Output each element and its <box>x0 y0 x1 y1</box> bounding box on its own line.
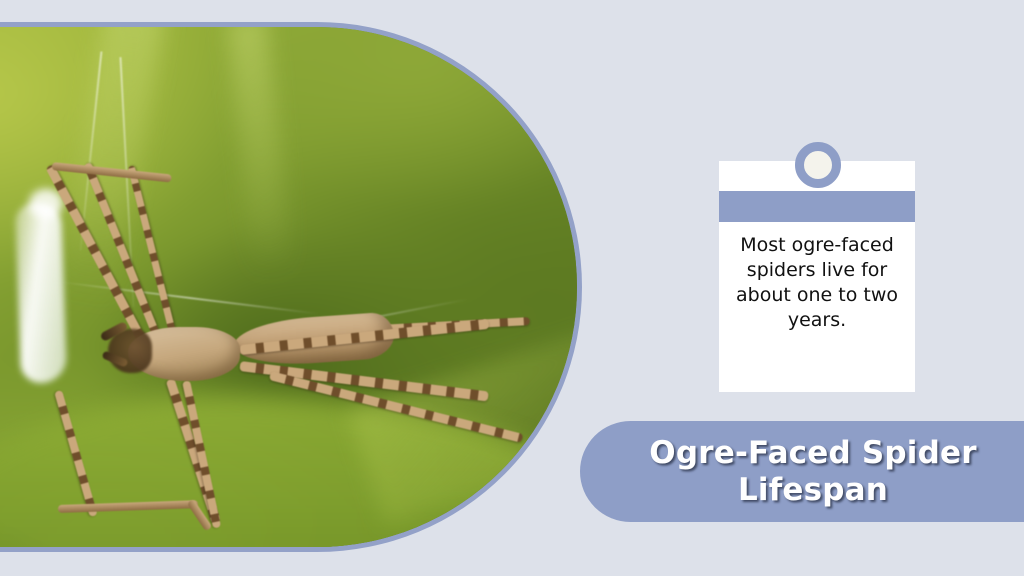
spider-photo-panel <box>0 22 582 552</box>
photo-image <box>0 27 577 547</box>
fact-card-text: Most ogre-faced spiders live for about o… <box>719 233 915 333</box>
page-title-line-1: Ogre-Faced Spider <box>649 435 976 471</box>
page-title: Ogre-Faced Spider Lifespan <box>609 435 994 509</box>
slide-canvas: Most ogre-faced spiders live for about o… <box>0 0 1024 576</box>
page-title-line-2: Lifespan <box>738 472 888 508</box>
silk-egg-sac <box>15 202 67 383</box>
circle-ornament-icon <box>795 142 841 188</box>
fact-card: Most ogre-faced spiders live for about o… <box>719 161 915 392</box>
title-banner: Ogre-Faced Spider Lifespan <box>580 421 1024 522</box>
fact-card-band <box>719 191 915 222</box>
